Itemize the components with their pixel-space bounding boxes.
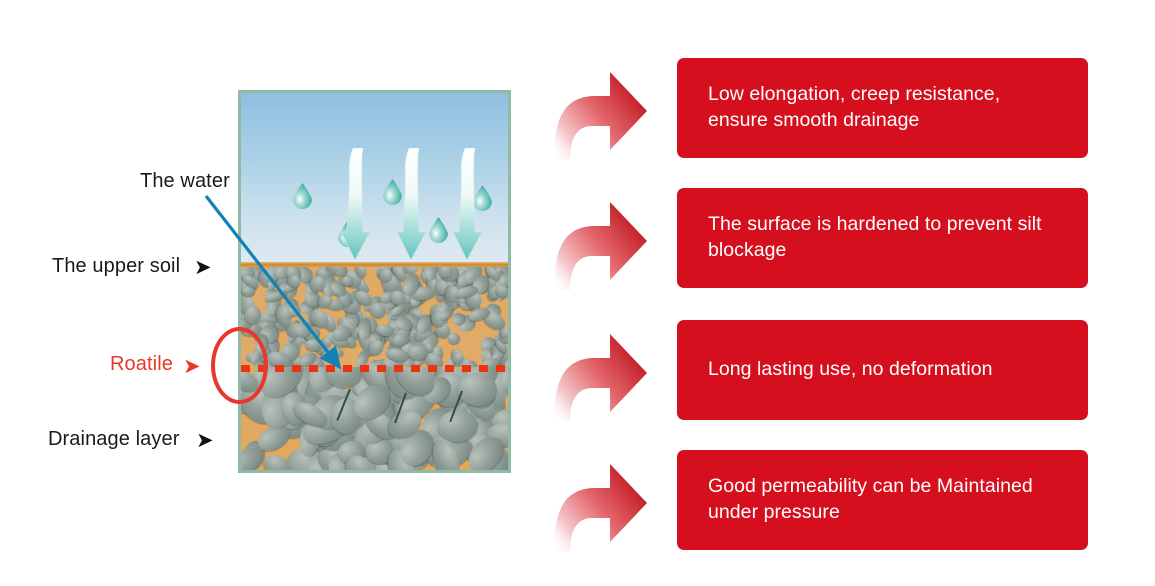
curved-arrow-icon <box>548 50 652 162</box>
roatile-membrane-line <box>241 365 508 372</box>
curved-arrow-icon <box>548 180 652 292</box>
water-flow-arrow-icon <box>397 148 427 260</box>
feature-box-4[interactable]: Good permeability can be Maintained unde… <box>677 450 1088 550</box>
drainage-diagram-panel: The water The upper soil ➤ Roatile ➤ Dra… <box>0 0 540 586</box>
roatile-highlight-ellipse <box>211 327 268 404</box>
feature-row-2: The surface is hardened to prevent silt … <box>540 188 1155 288</box>
drainage-layer-pointer-arrow-icon: ➤ <box>196 430 214 451</box>
cross-section-illustration <box>238 90 511 473</box>
label-the-upper-soil: The upper soil <box>52 255 180 278</box>
feature-row-4: Good permeability can be Maintained unde… <box>540 450 1155 550</box>
feature-text-1: Low elongation, creep resistance, ensure… <box>677 82 1088 134</box>
feature-box-1[interactable]: Low elongation, creep resistance, ensure… <box>677 58 1088 158</box>
feature-row-1: Low elongation, creep resistance, ensure… <box>540 58 1155 158</box>
pebble <box>448 333 460 344</box>
feature-text-4: Good permeability can be Maintained unde… <box>677 474 1088 526</box>
upper-soil-pointer-arrow-icon: ➤ <box>194 257 212 278</box>
feature-box-2[interactable]: The surface is hardened to prevent silt … <box>677 188 1088 288</box>
label-roatile: Roatile <box>110 353 173 376</box>
pebble <box>305 338 324 351</box>
label-drainage-layer: Drainage layer <box>48 428 179 451</box>
roatile-pointer-arrow-icon: ➤ <box>183 356 201 377</box>
feature-text-3: Long lasting use, no deformation <box>677 357 1017 383</box>
feature-text-2: The surface is hardened to prevent silt … <box>677 212 1088 264</box>
water-flow-arrow-icon <box>341 148 371 260</box>
curved-arrow-icon <box>548 442 652 554</box>
curved-arrow-icon <box>548 312 652 424</box>
drainage-layer-fill <box>241 367 508 470</box>
pebble <box>500 327 508 339</box>
feature-box-3[interactable]: Long lasting use, no deformation <box>677 320 1088 420</box>
feature-row-3: Long lasting use, no deformation <box>540 320 1155 420</box>
feature-list-panel: Low elongation, creep resistance, ensure… <box>540 0 1155 586</box>
water-flow-arrow-icon <box>453 148 483 260</box>
upper-soil-layer <box>241 267 508 367</box>
label-the-water: The water <box>140 170 230 193</box>
